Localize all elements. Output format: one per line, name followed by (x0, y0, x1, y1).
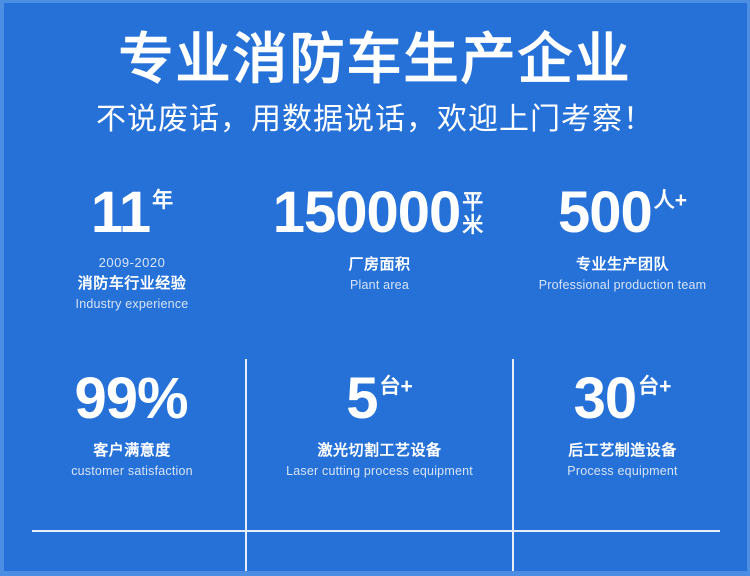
stat-cell: 11 年 2009-2020 消防车行业经验 Industry experien… (18, 180, 246, 354)
stat-number: 5 (346, 366, 377, 432)
stat-cell: 150000 平 米 厂房面积 Plant area (246, 180, 513, 354)
stat-number: 11 (91, 180, 150, 246)
stat-label-en: Professional production team (513, 276, 732, 294)
stat-unit: 人+ (652, 180, 687, 212)
stat-label-en: Industry experience (18, 295, 246, 313)
stat-label-cn: 专业生产团队 (513, 254, 732, 275)
stat-label-cn: 厂房面积 (246, 254, 513, 275)
stat-label-cn: 激光切割工艺设备 (246, 440, 513, 461)
stat-number-row: 5 台+ (246, 366, 513, 438)
banner-heading: 专业消防车生产企业 不说废话，用数据说话，欢迎上门考察！ (0, 0, 750, 138)
stat-cell: 30 台+ 后工艺制造设备 Process equipment (513, 366, 732, 536)
stats-section: 11 年 2009-2020 消防车行业经验 Industry experien… (0, 176, 750, 556)
stat-label-cn: 消防车行业经验 (18, 273, 246, 294)
stat-number-row: 99% (18, 366, 246, 438)
stat-number: 30 (574, 366, 637, 432)
stat-number-row: 11 年 (18, 180, 246, 252)
stat-unit: 平 米 (460, 180, 486, 237)
stat-label-cn: 后工艺制造设备 (513, 440, 732, 461)
stat-number: 150000 (273, 180, 461, 246)
stat-unit: 台+ (378, 366, 413, 398)
page-subtitle: 不说废话，用数据说话，欢迎上门考察！ (0, 90, 750, 138)
stat-cell: 99% 客户满意度 customer satisfaction (18, 366, 246, 536)
stat-label-en: customer satisfaction (18, 462, 246, 480)
stat-number-row: 30 台+ (513, 366, 732, 438)
stat-label-en: Laser cutting process equipment (246, 462, 513, 480)
stats-grid: 11 年 2009-2020 消防车行业经验 Industry experien… (18, 176, 732, 554)
stat-cell: 500 人+ 专业生产团队 Professional production te… (513, 180, 732, 354)
stat-note: 2009-2020 (18, 254, 246, 272)
page-title: 专业消防车生产企业 (0, 0, 750, 90)
stat-unit: 年 (150, 180, 173, 212)
stat-cell: 5 台+ 激光切割工艺设备 Laser cutting process equi… (246, 366, 513, 536)
stat-unit (188, 366, 190, 375)
stat-label-en: Plant area (246, 276, 513, 294)
stat-number: 500 (558, 180, 652, 246)
stat-number: 99% (74, 366, 187, 432)
stat-label-cn: 客户满意度 (18, 440, 246, 461)
promo-banner: 专业消防车生产企业 不说废话，用数据说话，欢迎上门考察！ 11 年 2009-2… (0, 0, 750, 576)
stat-unit: 台+ (636, 366, 671, 398)
stat-number-row: 500 人+ (513, 180, 732, 252)
stat-number-row: 150000 平 米 (246, 180, 513, 252)
stat-label-en: Process equipment (513, 462, 732, 480)
